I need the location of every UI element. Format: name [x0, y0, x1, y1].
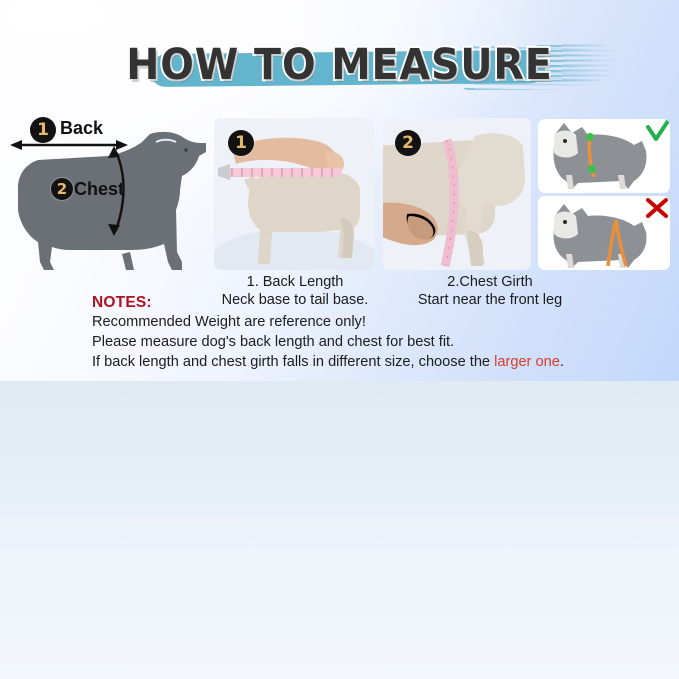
- back-arrow-right: [116, 140, 128, 150]
- correct-dog-illustration: [538, 119, 670, 193]
- notes-block: NOTES: Recommended Weight are reference …: [92, 294, 672, 372]
- badge-two-diagram: 2: [51, 178, 73, 200]
- incorrect-dog-illustration: [538, 196, 670, 270]
- notes-line-3-post: .: [560, 354, 564, 370]
- chest-label: Chest: [74, 179, 124, 200]
- incorrect-position-photo: [538, 196, 670, 270]
- back-length-photo: 1: [214, 118, 374, 270]
- back-arrow-left: [10, 140, 22, 150]
- badge-one-diagram: 1: [30, 117, 56, 143]
- size-chart-infographic: HOW TO MEASURE 1 Back 2 Chest: [0, 0, 679, 679]
- bottom-section: Size XS S M L XL 2XL 3XL 4XL Back (in) 8…: [0, 381, 679, 679]
- notes-line-3-pre: If back length and chest girth falls in …: [92, 354, 494, 370]
- notes-line-3-highlight: larger one: [494, 354, 560, 370]
- notes-line-2: Please measure dog's back length and che…: [92, 332, 672, 352]
- notes-title: NOTES:: [92, 294, 672, 312]
- measurement-diagram: 1 Back 2 Chest: [0, 112, 212, 280]
- correct-position-photo: [538, 119, 670, 193]
- notes-line-1: Recommended Weight are reference only!: [92, 312, 672, 332]
- title-banner: HOW TO MEASURE: [0, 34, 679, 100]
- page-title: HOW TO MEASURE: [27, 34, 652, 96]
- notes-line-3: If back length and chest girth falls in …: [92, 352, 672, 372]
- dog-back-leg: [122, 252, 134, 270]
- caption-back-length-line1: 1. Back Length: [205, 274, 385, 292]
- badge-one-photo: 1: [228, 130, 254, 156]
- chest-girth-photo: 2: [383, 118, 531, 270]
- badge-two-photo: 2: [395, 130, 421, 156]
- top-section: HOW TO MEASURE 1 Back 2 Chest: [0, 0, 679, 381]
- caption-chest-girth-line1: 2.Chest Girth: [395, 274, 585, 292]
- dog-eye: [184, 148, 188, 152]
- back-label: Back: [60, 118, 103, 139]
